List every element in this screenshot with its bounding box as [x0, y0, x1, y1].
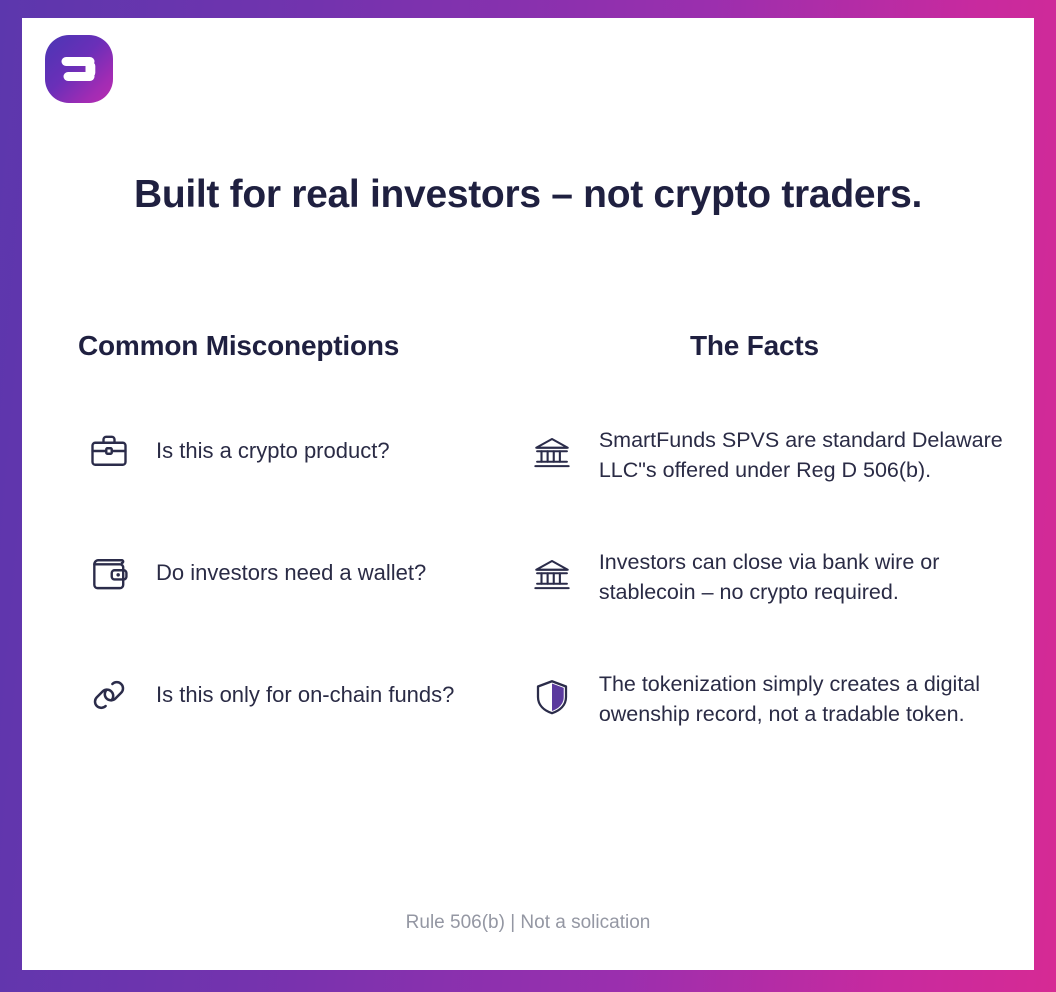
- table-row: Do investors need a wallet?: [22, 548, 1034, 670]
- wallet-icon: [84, 548, 134, 598]
- footer-disclaimer: Rule 506(b) | Not a solication: [22, 912, 1034, 934]
- brand-logo: [45, 35, 113, 103]
- bank-icon: [527, 550, 577, 600]
- fact-cell: The tokenization simply creates a digita…: [527, 670, 1034, 729]
- comparison-rows: Is this a crypto product?: [22, 426, 1034, 792]
- misconception-cell: Is this only for on-chain funds?: [22, 670, 527, 720]
- misconception-text: Is this a crypto product?: [156, 436, 390, 466]
- misconception-text: Is this only for on-chain funds?: [156, 680, 454, 710]
- comparison-section: Common Misconeptions The Facts: [22, 330, 1034, 792]
- gradient-frame: Built for real investors – not crypto tr…: [0, 0, 1056, 992]
- page-title: Built for real investors – not crypto tr…: [22, 173, 1034, 218]
- column-header-misconceptions: Common Misconeptions: [78, 330, 399, 362]
- column-headers: Common Misconeptions The Facts: [22, 330, 1034, 392]
- fact-cell: SmartFunds SPVS are standard Delaware LL…: [527, 426, 1034, 485]
- misconception-cell: Do investors need a wallet?: [22, 548, 527, 598]
- shield-icon: [527, 672, 577, 722]
- briefcase-icon: [84, 426, 134, 476]
- chain-link-icon: [84, 670, 134, 720]
- fact-text: The tokenization simply creates a digita…: [599, 670, 1034, 729]
- fact-cell: Investors can close via bank wire or sta…: [527, 548, 1034, 607]
- misconception-cell: Is this a crypto product?: [22, 426, 527, 476]
- misconception-text: Do investors need a wallet?: [156, 558, 426, 588]
- content-card: Built for real investors – not crypto tr…: [22, 18, 1034, 970]
- table-row: Is this a crypto product?: [22, 426, 1034, 548]
- smartfunds-logo-icon: [45, 35, 113, 103]
- table-row: Is this only for on-chain funds? The tok…: [22, 670, 1034, 792]
- fact-text: Investors can close via bank wire or sta…: [599, 548, 1034, 607]
- bank-icon: [527, 428, 577, 478]
- column-header-facts: The Facts: [690, 330, 819, 362]
- logo-tile: [45, 35, 113, 103]
- fact-text: SmartFunds SPVS are standard Delaware LL…: [599, 426, 1034, 485]
